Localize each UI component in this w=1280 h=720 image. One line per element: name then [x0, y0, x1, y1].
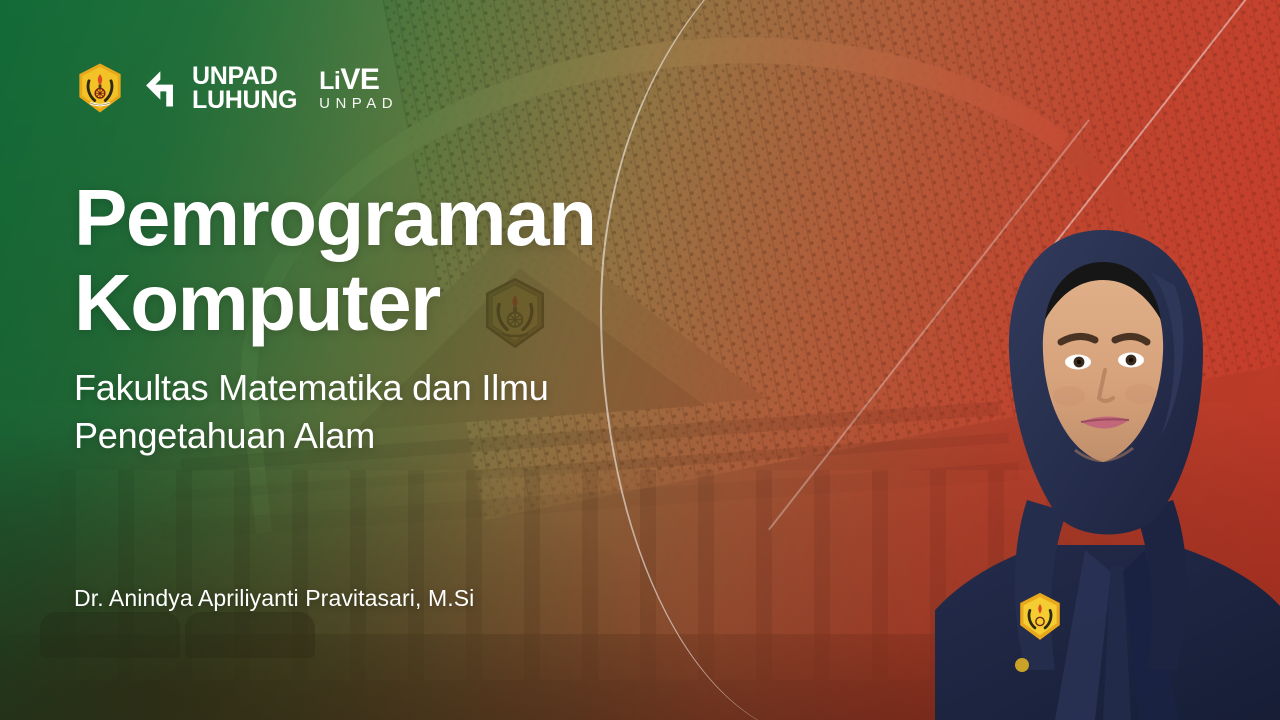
presentation-slide: UNPAD LUHUNG LiVE UNPAD Pemrograman Komp…	[0, 0, 1280, 720]
live-sub-unpad: UNPAD	[319, 96, 398, 111]
blazer-button	[1015, 658, 1029, 672]
live-word-ve: VE	[340, 63, 379, 96]
live-word: LiVE	[319, 65, 398, 95]
unpad-luhung-line2: LUHUNG	[192, 88, 297, 113]
presenter-name: Dr. Anindya Apriliyanti Pravitasari, M.S…	[74, 585, 474, 612]
faculty-subtitle: Fakultas Matematika dan Ilmu Pengetahuan…	[74, 364, 594, 459]
brand-logo-lockup[interactable]: UNPAD LUHUNG LiVE UNPAD	[76, 62, 398, 114]
live-unpad-wordmark: LiVE UNPAD	[319, 65, 398, 111]
unpad-seal-icon	[76, 62, 124, 114]
page-title: Pemrograman Komputer	[74, 176, 714, 346]
unpad-luhung-wordmark: UNPAD LUHUNG	[192, 64, 297, 113]
unpad-chevron-icon	[136, 67, 178, 109]
lecturer-portrait	[935, 200, 1280, 720]
live-word-li: Li	[319, 67, 340, 95]
